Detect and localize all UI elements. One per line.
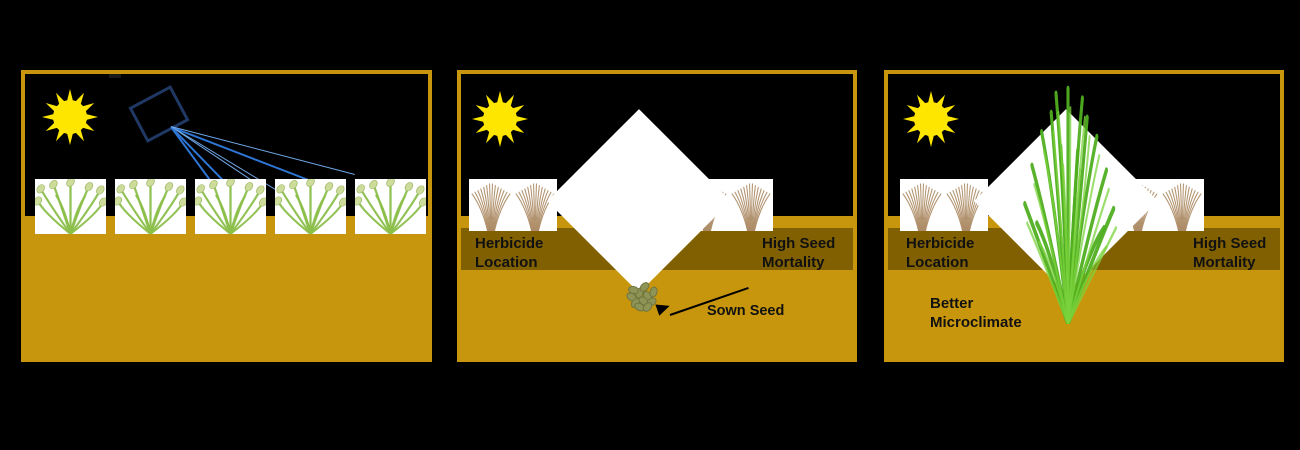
better-microclimate-label: Better Microclimate <box>930 294 1022 332</box>
panel-herbicide-spray <box>21 70 432 362</box>
sun-core <box>917 105 945 133</box>
spray-line <box>171 126 355 175</box>
dry-plant-card <box>900 179 988 231</box>
green-plant-card <box>275 179 346 234</box>
green-grass-plant-icon <box>195 179 266 234</box>
dry-dead-grass-icon <box>1160 179 1204 231</box>
panel-better-microclimate: Herbicide Location High Seed Mortality B… <box>884 70 1284 362</box>
sun-icon <box>900 88 962 150</box>
green-plant-card <box>35 179 106 234</box>
dry-dead-grass-icon <box>729 179 773 231</box>
dry-dead-grass-icon <box>469 179 513 231</box>
green-grass-plant-icon <box>115 179 186 234</box>
sun-core <box>56 103 84 131</box>
green-plant-card <box>355 179 426 234</box>
high-seed-mortality-label: High Seed Mortality <box>762 234 835 272</box>
top-border-notch <box>109 73 121 78</box>
herbicide-location-label: Herbicide Location <box>475 234 543 272</box>
high-seed-mortality-label: High Seed Mortality <box>1193 234 1266 272</box>
soil-lower-panel-1 <box>25 216 428 358</box>
green-grass-tuft-icon <box>1008 84 1128 324</box>
green-grass-plant-icon <box>275 179 346 234</box>
sown-seed-label: Sown Seed <box>707 302 784 321</box>
green-grass-plant-icon <box>35 179 106 234</box>
dry-plant-card <box>469 179 557 231</box>
sown-seed-cluster-icon <box>624 279 658 309</box>
figure-canvas: Herbicide Location High Seed Mortality S… <box>0 0 1300 450</box>
panel-sown-seed-furrow: Herbicide Location High Seed Mortality S… <box>457 70 857 362</box>
green-grass-plant-icon <box>355 179 426 234</box>
sun-icon <box>39 86 101 148</box>
green-plant-card <box>115 179 186 234</box>
seed-grain <box>648 286 659 299</box>
green-plant-card <box>195 179 266 234</box>
sun-icon <box>469 88 531 150</box>
dry-dead-grass-icon <box>900 179 944 231</box>
sun-core <box>486 105 514 133</box>
herbicide-location-label: Herbicide Location <box>906 234 974 272</box>
